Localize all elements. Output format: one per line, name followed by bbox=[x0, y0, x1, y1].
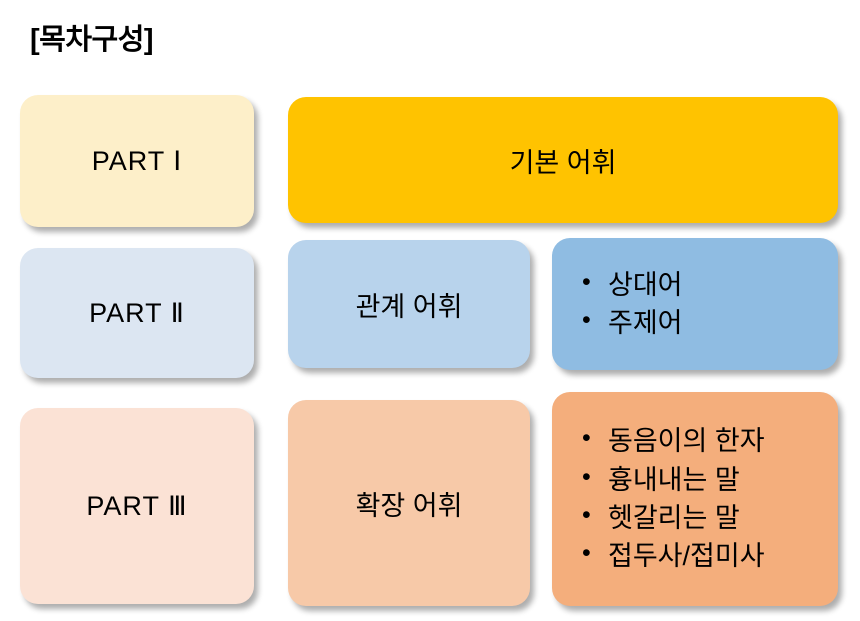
topic-2-label: 관계 어휘 bbox=[356, 285, 463, 324]
detail-2-box[interactable]: 상대어주제어 bbox=[552, 238, 838, 370]
list-item: 동음이의 한자 bbox=[580, 422, 838, 460]
page-title: [목차구성] bbox=[30, 16, 153, 58]
detail-3-box[interactable]: 동음이의 한자흉내내는 말헷갈리는 말접두사/접미사 bbox=[552, 392, 838, 606]
topic-1-box[interactable]: 기본 어휘 bbox=[288, 97, 838, 223]
topic-2-box[interactable]: 관계 어휘 bbox=[288, 240, 530, 368]
list-item: 흉내내는 말 bbox=[580, 461, 838, 499]
part-2-label: PART Ⅱ bbox=[89, 298, 185, 329]
topic-1-label: 기본 어휘 bbox=[510, 141, 617, 180]
part-3-box[interactable]: PART Ⅲ bbox=[20, 408, 254, 604]
part-2-box[interactable]: PART Ⅱ bbox=[20, 248, 254, 378]
list-item: 주제어 bbox=[580, 304, 838, 342]
list-item: 상대어 bbox=[580, 266, 838, 304]
slide-canvas: [목차구성] PART Ⅰ 기본 어휘 PART Ⅱ 관계 어휘 상대어주제어 … bbox=[0, 0, 860, 621]
list-item: 접두사/접미사 bbox=[580, 537, 838, 575]
detail-3-list: 동음이의 한자흉내내는 말헷갈리는 말접두사/접미사 bbox=[552, 422, 838, 575]
topic-3-box[interactable]: 확장 어휘 bbox=[288, 400, 530, 606]
detail-2-list: 상대어주제어 bbox=[552, 266, 838, 343]
topic-3-label: 확장 어휘 bbox=[356, 484, 463, 523]
list-item: 헷갈리는 말 bbox=[580, 499, 838, 537]
part-1-label: PART Ⅰ bbox=[92, 146, 183, 177]
part-3-label: PART Ⅲ bbox=[86, 491, 187, 522]
part-1-box[interactable]: PART Ⅰ bbox=[20, 95, 254, 227]
